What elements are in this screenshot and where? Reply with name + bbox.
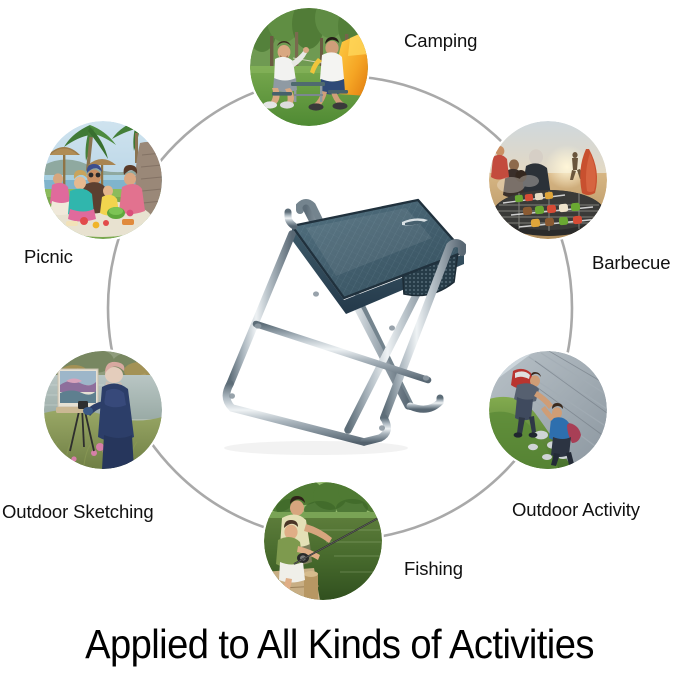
barbecue-photo bbox=[489, 121, 607, 239]
outdoor-sketching-photo bbox=[44, 351, 162, 469]
node-outdoor-sketching[interactable] bbox=[44, 351, 162, 469]
node-fishing[interactable] bbox=[264, 482, 382, 600]
folding-stool-illustration bbox=[196, 148, 488, 460]
picnic-photo bbox=[44, 121, 162, 239]
infographic-canvas: Camping bbox=[0, 0, 679, 682]
label-outdoor-sketching: Outdoor Sketching bbox=[2, 502, 154, 522]
page-caption: Applied to All Kinds of Activities bbox=[24, 621, 655, 668]
label-outdoor-activity: Outdoor Activity bbox=[512, 500, 640, 520]
node-outdoor-activity[interactable] bbox=[489, 351, 607, 469]
label-barbecue: Barbecue bbox=[592, 253, 670, 273]
outdoor-activity-photo bbox=[489, 351, 607, 469]
label-fishing: Fishing bbox=[404, 559, 463, 579]
camping-photo bbox=[250, 8, 368, 126]
fishing-photo bbox=[264, 482, 382, 600]
node-camping[interactable] bbox=[250, 8, 368, 126]
node-picnic[interactable] bbox=[44, 121, 162, 239]
label-picnic: Picnic bbox=[24, 247, 73, 267]
label-camping: Camping bbox=[404, 31, 477, 51]
node-barbecue[interactable] bbox=[489, 121, 607, 239]
product-folding-stool[interactable] bbox=[196, 148, 488, 460]
